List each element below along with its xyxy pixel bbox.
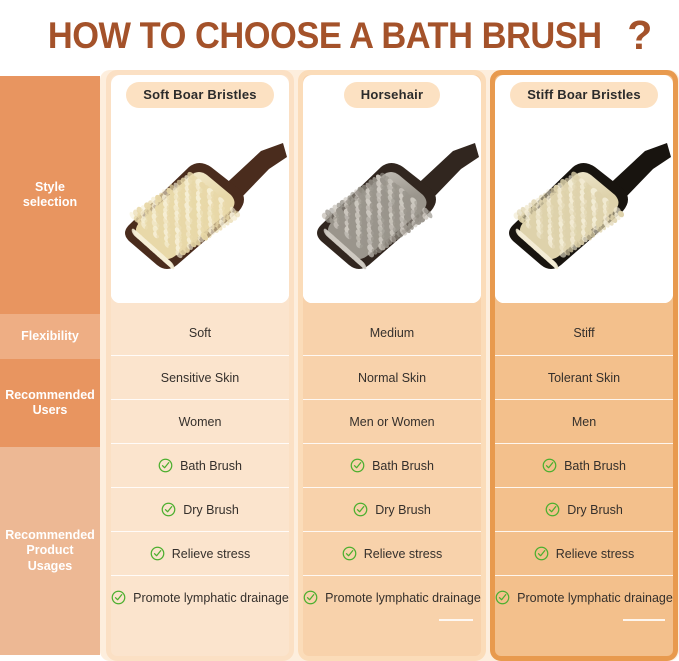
check-circle-icon: [161, 502, 176, 517]
brush-image: [303, 113, 481, 303]
table-cell-blank: [111, 619, 289, 661]
brush-photo: [495, 113, 673, 303]
cell-value: Sensitive Skin: [161, 371, 240, 385]
column-header-pill: Stiff Boar Bristles: [510, 82, 658, 108]
table-cell: Women: [111, 399, 289, 443]
checklist-item: Bath Brush: [350, 458, 434, 473]
sidebar-band-recommended-product-usages: Recommended Product Usages: [0, 447, 100, 655]
checklist-item: Promote lymphatic drainage: [111, 590, 289, 605]
checklist-label: Relieve stress: [172, 547, 251, 561]
checklist-label: Bath Brush: [564, 459, 626, 473]
check-circle-icon: [303, 590, 318, 605]
table-cell: Bath Brush: [111, 443, 289, 487]
checklist-label: Promote lymphatic drainage: [325, 591, 481, 605]
checklist-label: Dry Brush: [375, 503, 431, 517]
checklist-label: Promote lymphatic drainage: [133, 591, 289, 605]
column-header: Stiff Boar Bristles: [495, 75, 673, 115]
checklist-item: Relieve stress: [342, 546, 443, 561]
product-photo-panel: Soft Boar Bristles: [111, 75, 289, 303]
check-circle-icon: [350, 458, 365, 473]
check-circle-icon: [158, 458, 173, 473]
product-photo-panel: Stiff Boar Bristles: [495, 75, 673, 303]
check-circle-icon: [545, 502, 560, 517]
check-circle-icon: [495, 590, 510, 605]
sidebar-band-label: Style selection: [23, 180, 77, 211]
table-cell: Tolerant Skin: [495, 355, 673, 399]
column-header-pill: Soft Boar Bristles: [126, 82, 273, 108]
table-cell: Men or Women: [303, 399, 481, 443]
checklist-item: Promote lymphatic drainage: [495, 590, 673, 605]
table-cell: Promote lymphatic drainage: [495, 575, 673, 619]
column-header: Horsehair: [303, 75, 481, 115]
product-column-horsehair[interactable]: HorsehairMediumNormal SkinMen or WomenBa…: [298, 70, 486, 661]
checklist-item: Dry Brush: [545, 502, 623, 517]
table-cell-blank: [495, 619, 673, 661]
cell-value: Stiff: [573, 326, 594, 340]
table-cell: Dry Brush: [111, 487, 289, 531]
table-cell: Relieve stress: [111, 531, 289, 575]
cell-value: Men or Women: [349, 415, 434, 429]
checklist-item: Dry Brush: [161, 502, 239, 517]
checklist-label: Bath Brush: [372, 459, 434, 473]
cell-value: Medium: [370, 326, 414, 340]
comparison-table: Style selectionFlexibilityRecommended Us…: [0, 70, 679, 661]
brush-photo: [111, 113, 289, 303]
page-title: HOW TO CHOOSE A BATH BRUSH: [48, 17, 602, 54]
check-circle-icon: [150, 546, 165, 561]
product-photo-panel: Horsehair: [303, 75, 481, 303]
checklist-item: Dry Brush: [353, 502, 431, 517]
checklist-label: Bath Brush: [180, 459, 242, 473]
cell-value: Normal Skin: [358, 371, 426, 385]
check-circle-icon: [542, 458, 557, 473]
cell-value: Soft: [189, 326, 211, 340]
table-cell: Promote lymphatic drainage: [303, 575, 481, 619]
table-cell: Dry Brush: [495, 487, 673, 531]
checklist-item: Bath Brush: [158, 458, 242, 473]
checklist-item: Promote lymphatic drainage: [303, 590, 481, 605]
column-cells: SoftSensitive SkinWomenBath BrushDry Bru…: [111, 311, 289, 661]
column-cells: MediumNormal SkinMen or WomenBath BrushD…: [303, 311, 481, 661]
brush-image: [111, 113, 289, 303]
table-cell: Soft: [111, 311, 289, 355]
checklist-label: Promote lymphatic drainage: [517, 591, 673, 605]
table-cell: Bath Brush: [495, 443, 673, 487]
table-cell: Medium: [303, 311, 481, 355]
product-column-stiff-boar[interactable]: Stiff Boar BristlesStiffTolerant SkinMen…: [490, 70, 678, 661]
table-cell: Normal Skin: [303, 355, 481, 399]
infographic-page: HOW TO CHOOSE A BATH BRUSH ? Style selec…: [0, 0, 679, 661]
checklist-item: Bath Brush: [542, 458, 626, 473]
checklist-label: Relieve stress: [364, 547, 443, 561]
column-cells: StiffTolerant SkinMenBath BrushDry Brush…: [495, 311, 673, 661]
page-title-question-mark: ?: [627, 15, 652, 56]
check-circle-icon: [353, 502, 368, 517]
checklist-label: Relieve stress: [556, 547, 635, 561]
cell-value: Men: [572, 415, 596, 429]
table-cell: Relieve stress: [303, 531, 481, 575]
sidebar-band-flexibility: Flexibility: [0, 314, 100, 359]
table-cell-blank: [303, 619, 481, 661]
check-circle-icon: [534, 546, 549, 561]
checklist-label: Dry Brush: [567, 503, 623, 517]
table-cell: Dry Brush: [303, 487, 481, 531]
brush-photo: [303, 113, 481, 303]
check-circle-icon: [342, 546, 357, 561]
column-header: Soft Boar Bristles: [111, 75, 289, 115]
checklist-item: Relieve stress: [150, 546, 251, 561]
column-header-pill: Horsehair: [344, 82, 441, 108]
check-circle-icon: [111, 590, 126, 605]
row-category-sidebar: Style selectionFlexibilityRecommended Us…: [0, 76, 100, 655]
cell-value: Women: [179, 415, 222, 429]
table-cell: Stiff: [495, 311, 673, 355]
checklist-item: Relieve stress: [534, 546, 635, 561]
sidebar-band-label: Recommended Product Usages: [5, 528, 95, 574]
table-cell: Relieve stress: [495, 531, 673, 575]
brush-image: [495, 113, 673, 303]
table-cell: Promote lymphatic drainage: [111, 575, 289, 619]
product-column-soft-boar[interactable]: Soft Boar BristlesSoftSensitive SkinWome…: [106, 70, 294, 661]
sidebar-band-recommended-users: Recommended Users: [0, 359, 100, 447]
table-cell: Bath Brush: [303, 443, 481, 487]
title-bar: HOW TO CHOOSE A BATH BRUSH ?: [0, 0, 679, 70]
sidebar-band-label: Flexibility: [21, 329, 79, 344]
table-cell: Men: [495, 399, 673, 443]
sidebar-band-label: Recommended Users: [5, 388, 95, 419]
cell-value: Tolerant Skin: [548, 371, 620, 385]
table-cell: Sensitive Skin: [111, 355, 289, 399]
checklist-label: Dry Brush: [183, 503, 239, 517]
sidebar-band-style-selection: Style selection: [0, 76, 100, 314]
